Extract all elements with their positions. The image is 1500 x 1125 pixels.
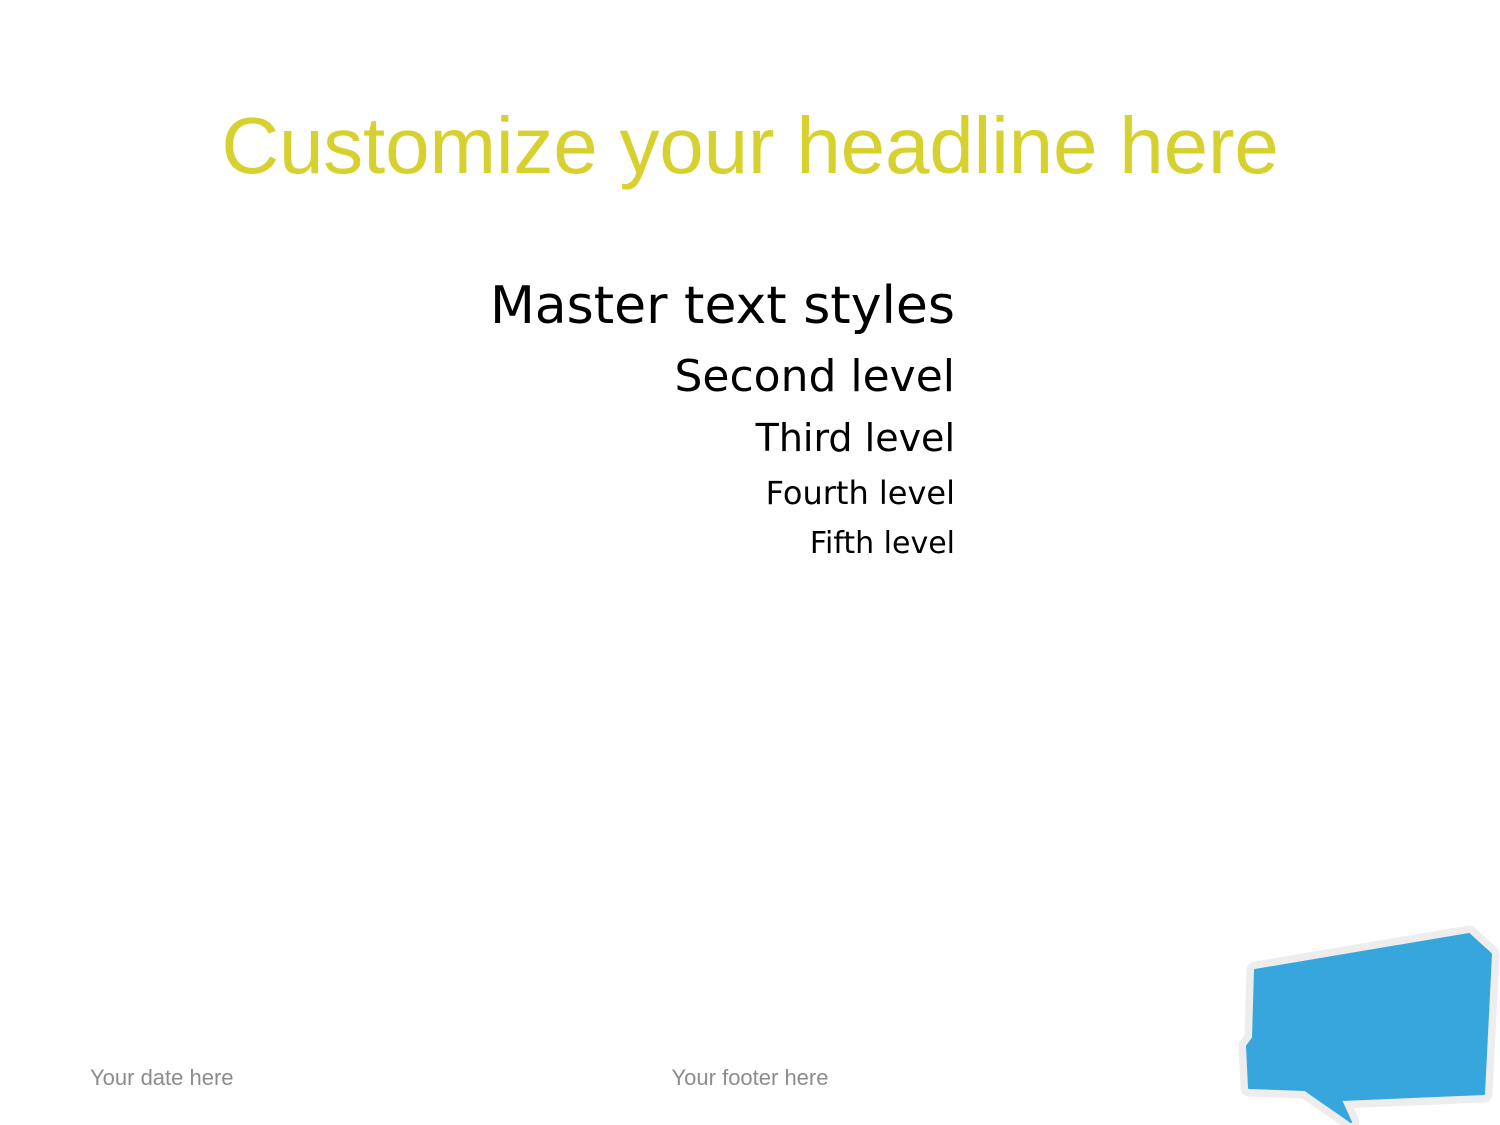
- slide-canvas: Customize your headline here Master text…: [0, 0, 1500, 1125]
- outline-level-3: Third level: [110, 410, 955, 467]
- footer-placeholder[interactable]: Your footer here: [450, 1065, 1050, 1091]
- title-placeholder[interactable]: Customize your headline here: [110, 96, 1390, 196]
- date-placeholder[interactable]: Your date here: [90, 1065, 234, 1091]
- speech-bubble-border: [1247, 934, 1491, 1122]
- outline-level-5: Fifth level: [110, 519, 955, 569]
- speech-bubble-fill: [1247, 934, 1491, 1122]
- outline-level-2: Second level: [110, 344, 955, 410]
- outline-level-4: Fourth level: [110, 467, 955, 519]
- outline-level-1: Master text styles: [110, 268, 955, 344]
- speech-bubble-icon: [1233, 922, 1500, 1125]
- body-text-placeholder[interactable]: Master text styles Second level Third le…: [110, 268, 955, 569]
- page-title: Customize your headline here: [221, 104, 1278, 188]
